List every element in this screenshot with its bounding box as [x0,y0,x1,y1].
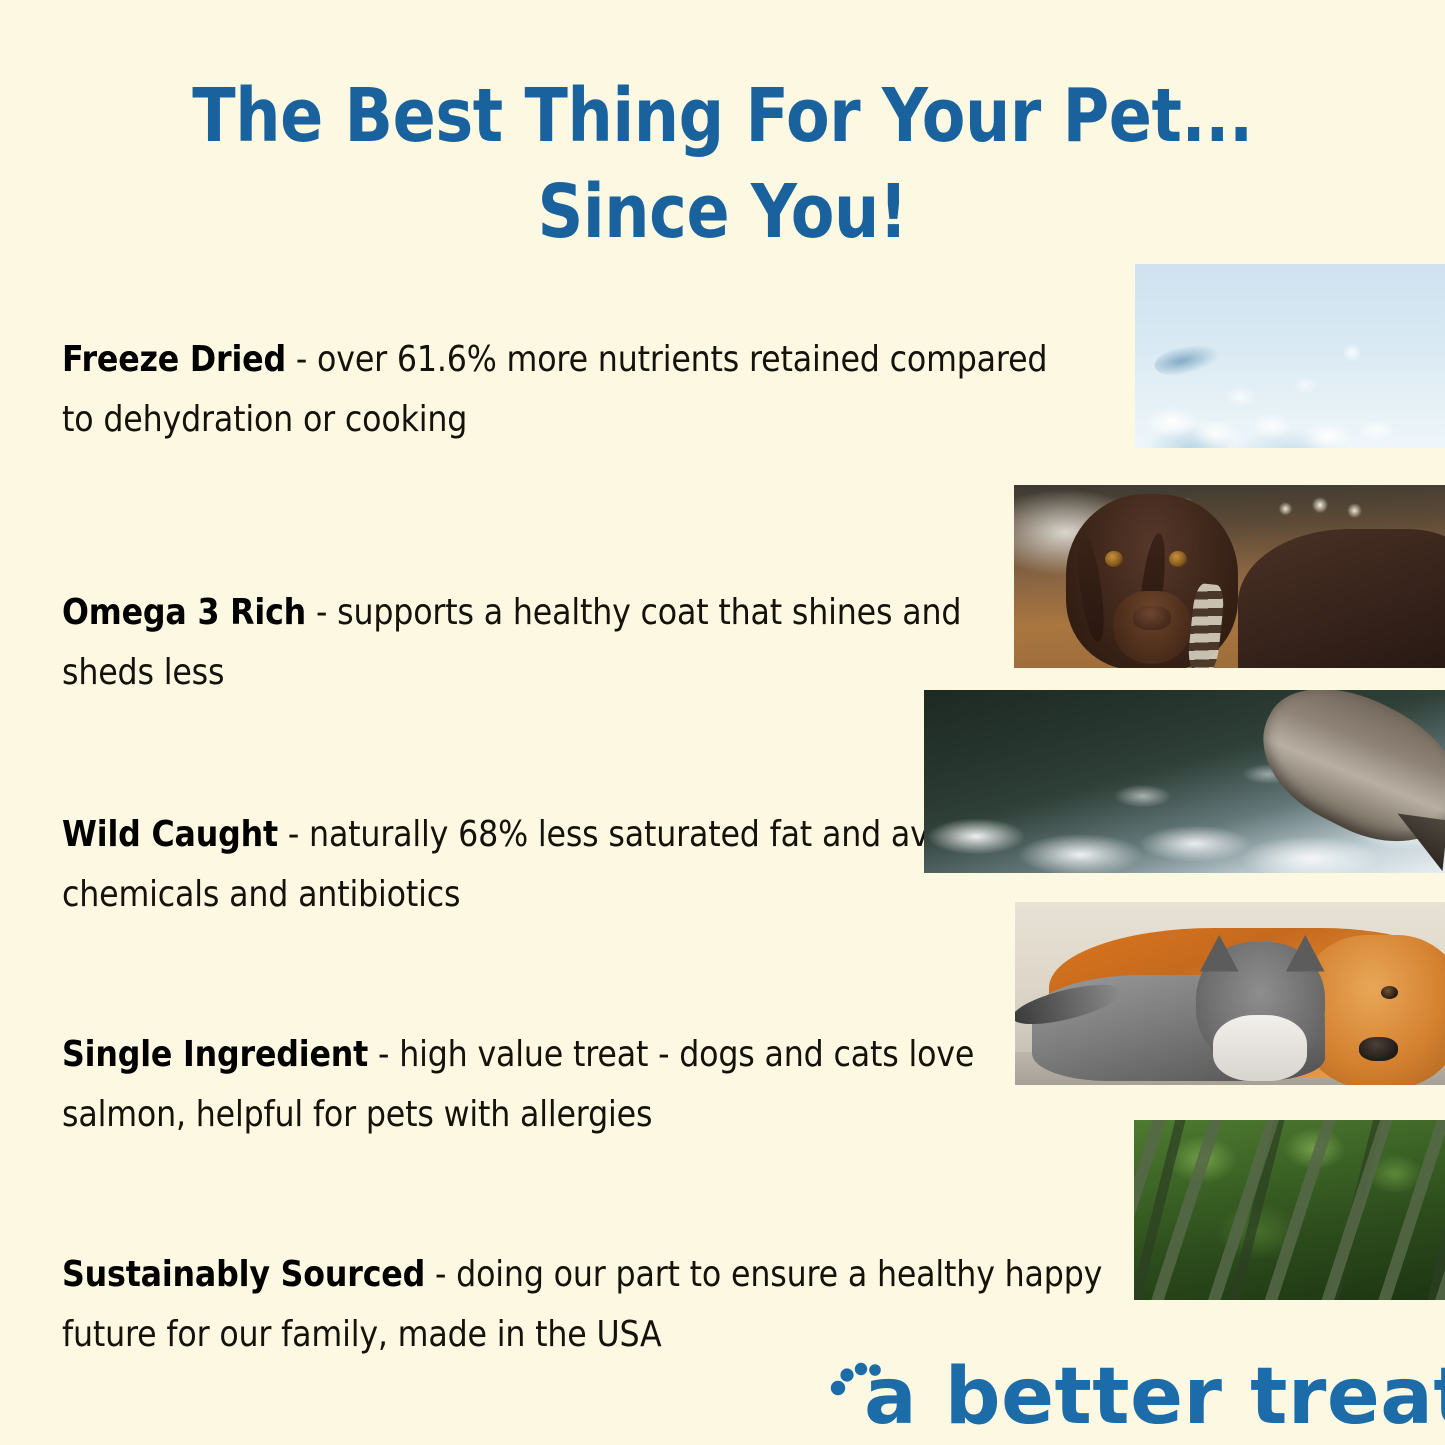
feature-title: Sustainably Sourced [62,1254,425,1295]
leaping-salmon-image [924,690,1445,873]
dog-body [1238,529,1445,668]
golden-retriever-eye [1381,986,1398,999]
ice-splash-detail [1151,338,1224,381]
chocolate-labrador-image [1014,485,1445,668]
feature-title: Freeze Dried [62,339,286,380]
feature-separator: - [368,1034,399,1075]
feature-separator: - [286,339,317,380]
dog-ear-left [1072,532,1108,643]
feature-title: Wild Caught [62,814,278,855]
infographic-page: The Best Thing For Your Pet... Since You… [0,0,1445,1445]
ice-crystals-image [1135,264,1445,448]
dog-nose [1133,606,1172,630]
golden-retriever-nose [1359,1037,1398,1061]
feature-item-wild-caught: Wild Caught - naturally 68% less saturat… [62,805,995,925]
brand-logo: a better treat [826,1358,1426,1444]
feature-separator: - [306,592,337,633]
headline-line-1: The Best Thing For Your Pet... [192,73,1253,159]
feature-item-single-ingredient: Single Ingredient - high value treat - d… [62,1025,1039,1145]
salmon-body [1240,690,1445,869]
cat-and-dog-photo [1015,902,1445,1085]
page-title: The Best Thing For Your Pet... Since You… [101,68,1344,260]
feature-separator: - [425,1254,456,1295]
dog-eye-left [1105,551,1123,567]
brand-name: a better treat [864,1354,1445,1440]
feature-title: Omega 3 Rich [62,592,306,633]
cat-and-dog-image [1015,902,1445,1085]
headline-line-2: Since You! [101,164,1344,260]
ice-crystals-photo [1135,264,1445,448]
feature-item-omega-3-rich: Omega 3 Rich - supports a healthy coat t… [62,583,995,703]
feature-item-sustainably-sourced: Sustainably Sourced - doing our part to … [62,1245,1127,1365]
feature-title: Single Ingredient [62,1034,368,1075]
feature-separator: - [278,814,309,855]
green-forest-photo [1134,1120,1445,1300]
leaping-salmon-photo [924,690,1445,873]
cat-chest-fur [1213,1015,1308,1081]
green-forest-image [1134,1120,1445,1300]
chocolate-labrador-photo [1014,485,1445,668]
feature-item-freeze-dried: Freeze Dried - over 61.6% more nutrients… [62,330,1065,450]
